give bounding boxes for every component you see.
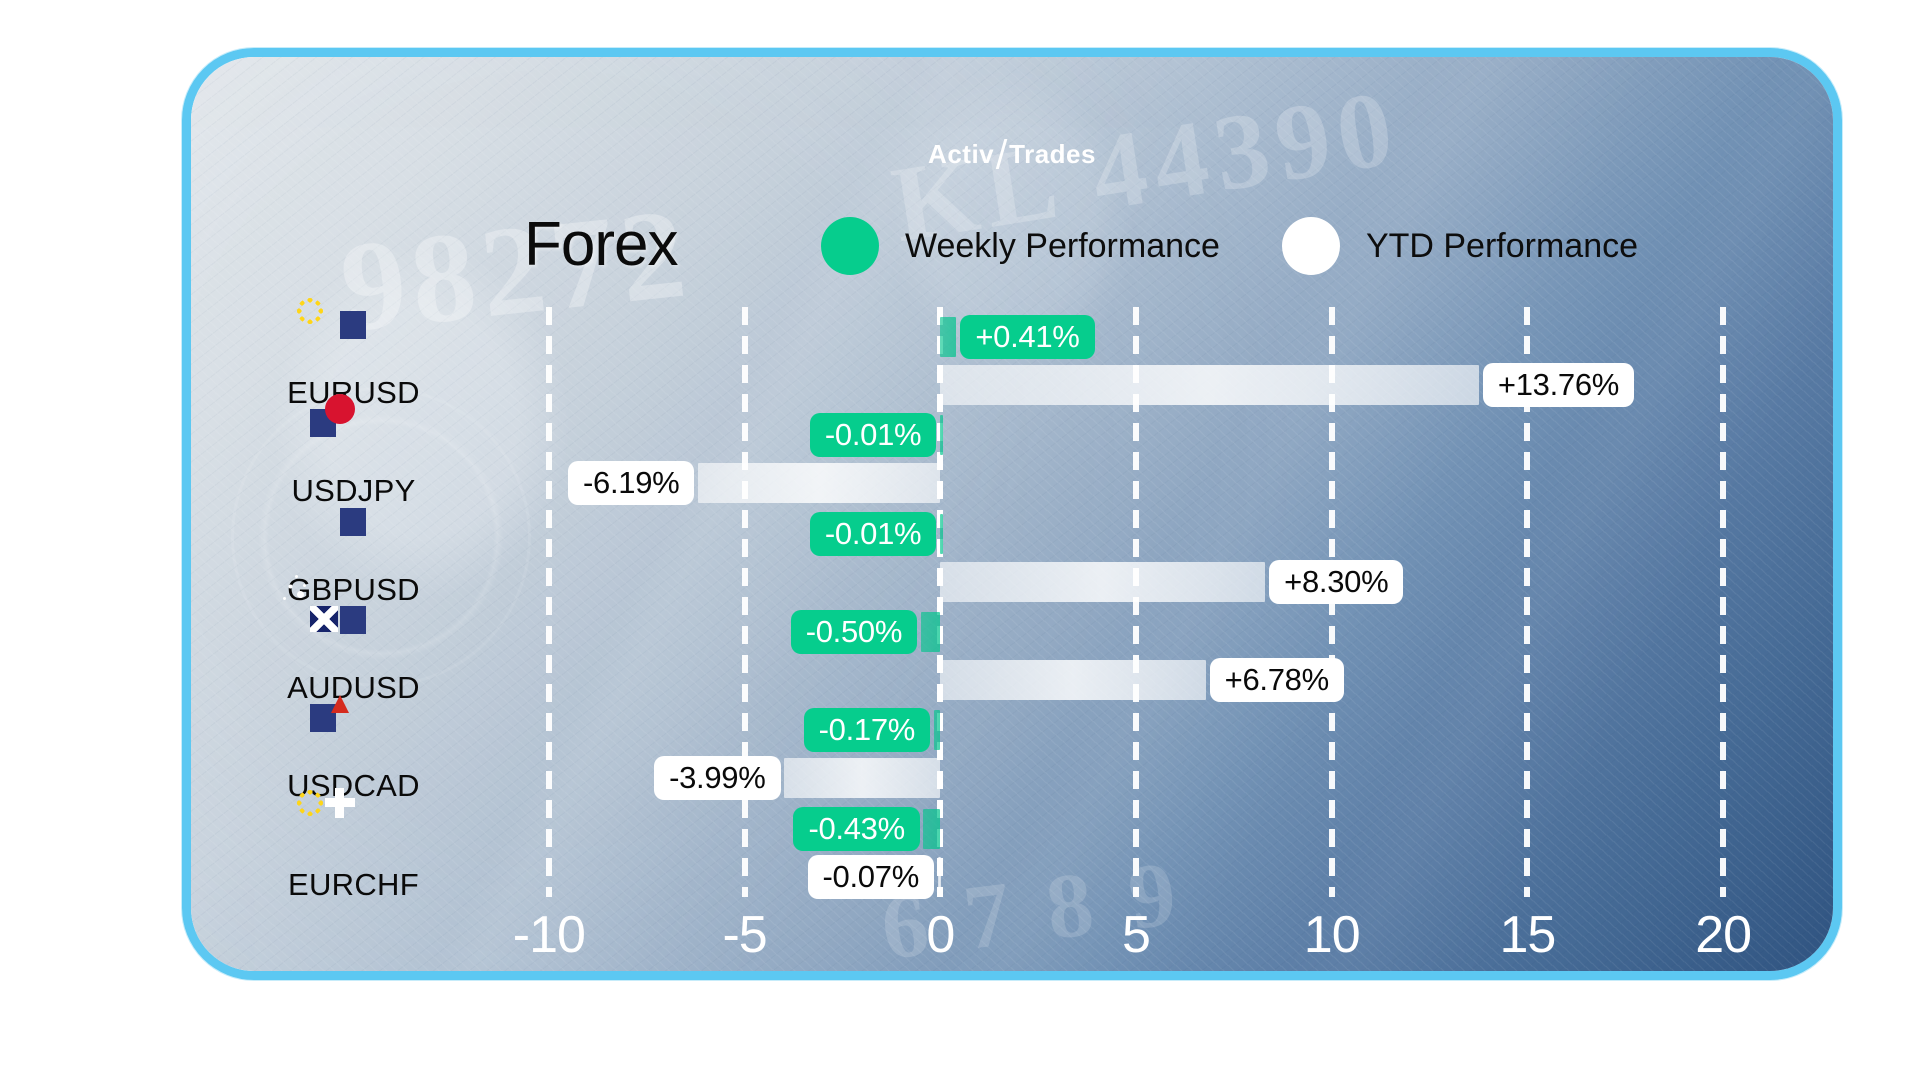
ytd-bar: [938, 857, 941, 897]
legend-label-weekly: Weekly Performance: [905, 227, 1220, 266]
weekly-bar: [923, 809, 940, 849]
chart-row-audusd: AUDUSD-0.50%+6.78%: [451, 602, 1821, 700]
screenshot-root: 98272 KL 44390 6 7 8 9 ActivTrades Forex…: [0, 0, 1920, 1080]
ytd-bar: [940, 660, 1205, 700]
pair-cell-usdjpy[interactable]: USDJPY: [266, 409, 441, 509]
logo-text-activ: Activ: [928, 139, 994, 169]
chart-legend: Weekly Performance YTD Performance: [821, 217, 1638, 275]
x-axis-ticks: -10-505101520: [451, 905, 1821, 965]
ytd-bar: [940, 365, 1479, 405]
x-tick--10: -10: [513, 905, 585, 965]
weekly-bar: [934, 710, 941, 750]
legend-item-weekly[interactable]: Weekly Performance: [821, 217, 1220, 275]
legend-label-ytd: YTD Performance: [1366, 227, 1638, 266]
logo-text-trades: Trades: [1009, 139, 1096, 169]
flag-pair-icon: [310, 606, 398, 666]
flag-pair-icon: [310, 704, 398, 764]
weekly-value-label: -0.50%: [791, 610, 917, 654]
x-axis-label: % Performance: [881, 977, 1143, 980]
ytd-value-label: +6.78%: [1210, 658, 1344, 702]
chart-row-gbpusd: GBPUSD-0.01%+8.30%: [451, 504, 1821, 602]
pair-label: EURCHF: [288, 867, 419, 903]
x-tick-0: 0: [926, 905, 954, 965]
weekly-value-label: -0.01%: [810, 512, 936, 556]
ytd-value-label: -6.19%: [568, 461, 694, 505]
legend-item-ytd[interactable]: YTD Performance: [1282, 217, 1638, 275]
chart-row-usdjpy: USDJPY-0.01%-6.19%: [451, 405, 1821, 503]
plot-area: EURUSD+0.41%+13.76%USDJPY-0.01%-6.19%GBP…: [451, 307, 1821, 897]
pair-cell-gbpusd[interactable]: GBPUSD: [266, 508, 441, 608]
activtrades-logo: ActivTrades: [928, 139, 1096, 170]
pair-label: USDJPY: [291, 473, 415, 509]
ytd-value-label: -3.99%: [654, 756, 780, 800]
ytd-value-label: +13.76%: [1483, 363, 1634, 407]
weekly-value-label: -0.43%: [793, 807, 919, 851]
ytd-bar: [698, 463, 940, 503]
weekly-value-label: -0.01%: [810, 413, 936, 457]
x-tick-5: 5: [1122, 905, 1150, 965]
chart-row-eurusd: EURUSD+0.41%+13.76%: [451, 307, 1821, 405]
ytd-bar: [784, 758, 940, 798]
page-title: Forex: [524, 209, 677, 280]
pair-cell-eurchf[interactable]: EURCHF: [266, 803, 441, 903]
pair-cell-eurusd[interactable]: EURUSD: [266, 311, 441, 411]
x-tick-20: 20: [1695, 905, 1751, 965]
bar-rows: EURUSD+0.41%+13.76%USDJPY-0.01%-6.19%GBP…: [451, 307, 1821, 897]
chart-row-eurchf: EURCHF-0.43%-0.07%: [451, 799, 1821, 897]
chart-row-usdcad: USDCAD-0.17%-3.99%: [451, 700, 1821, 798]
weekly-bar: [921, 612, 941, 652]
x-tick--5: -5: [722, 905, 766, 965]
flag-pair-icon: [310, 409, 398, 469]
x-tick-10: 10: [1304, 905, 1360, 965]
weekly-value-label: +0.41%: [960, 315, 1094, 359]
weekly-bar: [940, 415, 943, 455]
x-tick-15: 15: [1500, 905, 1556, 965]
flag-pair-icon: [310, 803, 398, 863]
ytd-value-label: -0.07%: [808, 855, 934, 899]
pair-label: AUDUSD: [287, 670, 420, 706]
pair-label: GBPUSD: [287, 572, 420, 608]
flag-pair-icon: [310, 508, 398, 568]
forex-performance-card: 98272 KL 44390 6 7 8 9 ActivTrades Forex…: [182, 48, 1842, 980]
logo-slash-icon: [996, 139, 1008, 169]
legend-dot-ytd-icon: [1282, 217, 1340, 275]
flag-pair-icon: [310, 311, 398, 371]
pair-cell-audusd[interactable]: AUDUSD: [266, 606, 441, 706]
weekly-bar: [940, 514, 943, 554]
weekly-value-label: -0.17%: [804, 708, 930, 752]
weekly-bar: [940, 317, 956, 357]
ytd-bar: [940, 562, 1265, 602]
ytd-value-label: +8.30%: [1269, 560, 1403, 604]
legend-dot-weekly-icon: [821, 217, 879, 275]
